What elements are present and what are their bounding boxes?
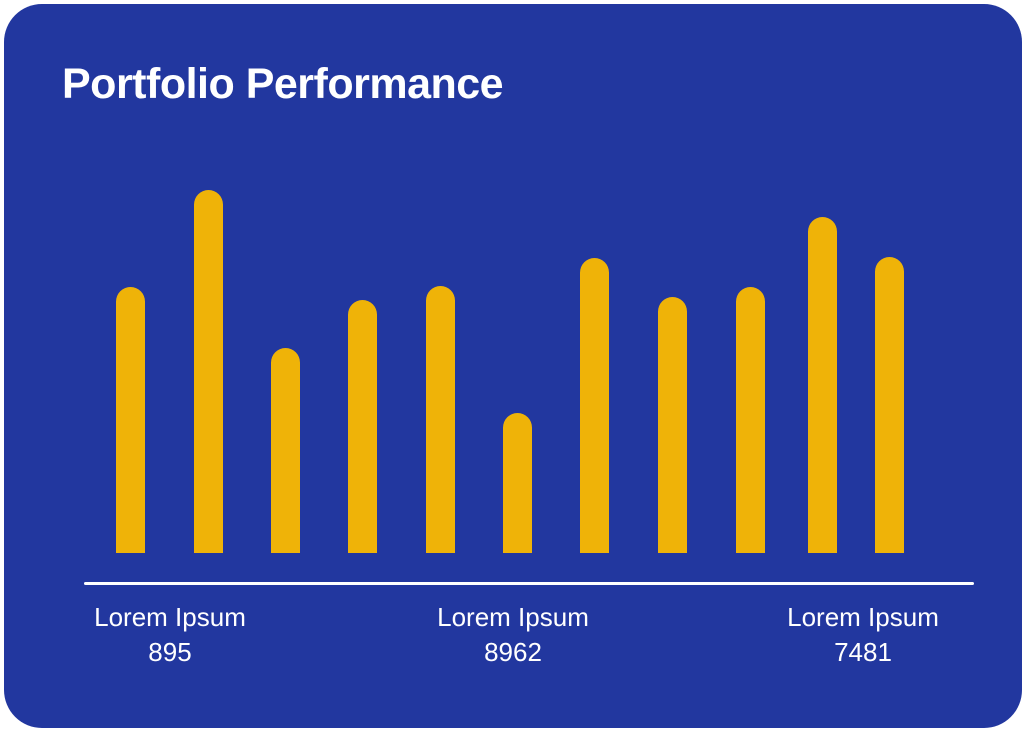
bar-5[interactable]: [426, 286, 455, 553]
x-axis-line: [84, 582, 974, 585]
axis-tick-value-3: 7481: [713, 634, 1013, 670]
axis-tick-value-1: 895: [20, 634, 320, 670]
bar-10[interactable]: [808, 217, 837, 553]
axis-tick-label-1: Lorem Ipsum: [20, 600, 320, 634]
bar-4[interactable]: [348, 300, 377, 553]
bar-9[interactable]: [736, 287, 765, 553]
axis-tick-label-3: Lorem Ipsum: [713, 600, 1013, 634]
bar-2[interactable]: [194, 190, 223, 553]
bar-11[interactable]: [875, 257, 904, 553]
bar-8[interactable]: [658, 297, 687, 553]
x-axis-labels: Lorem Ipsum 895 Lorem Ipsum 8962 Lorem I…: [4, 600, 1022, 690]
chart-card: Portfolio Performance Lorem Ipsum 895 Lo…: [4, 4, 1022, 728]
axis-tick-label-2: Lorem Ipsum: [363, 600, 663, 634]
axis-tick-group-1: Lorem Ipsum 895: [20, 600, 320, 670]
axis-tick-group-2: Lorem Ipsum 8962: [363, 600, 663, 670]
bar-1[interactable]: [116, 287, 145, 553]
axis-tick-value-2: 8962: [363, 634, 663, 670]
bar-7[interactable]: [580, 258, 609, 553]
axis-tick-group-3: Lorem Ipsum 7481: [713, 600, 1013, 670]
bar-6[interactable]: [503, 413, 532, 553]
bar-3[interactable]: [271, 348, 300, 553]
